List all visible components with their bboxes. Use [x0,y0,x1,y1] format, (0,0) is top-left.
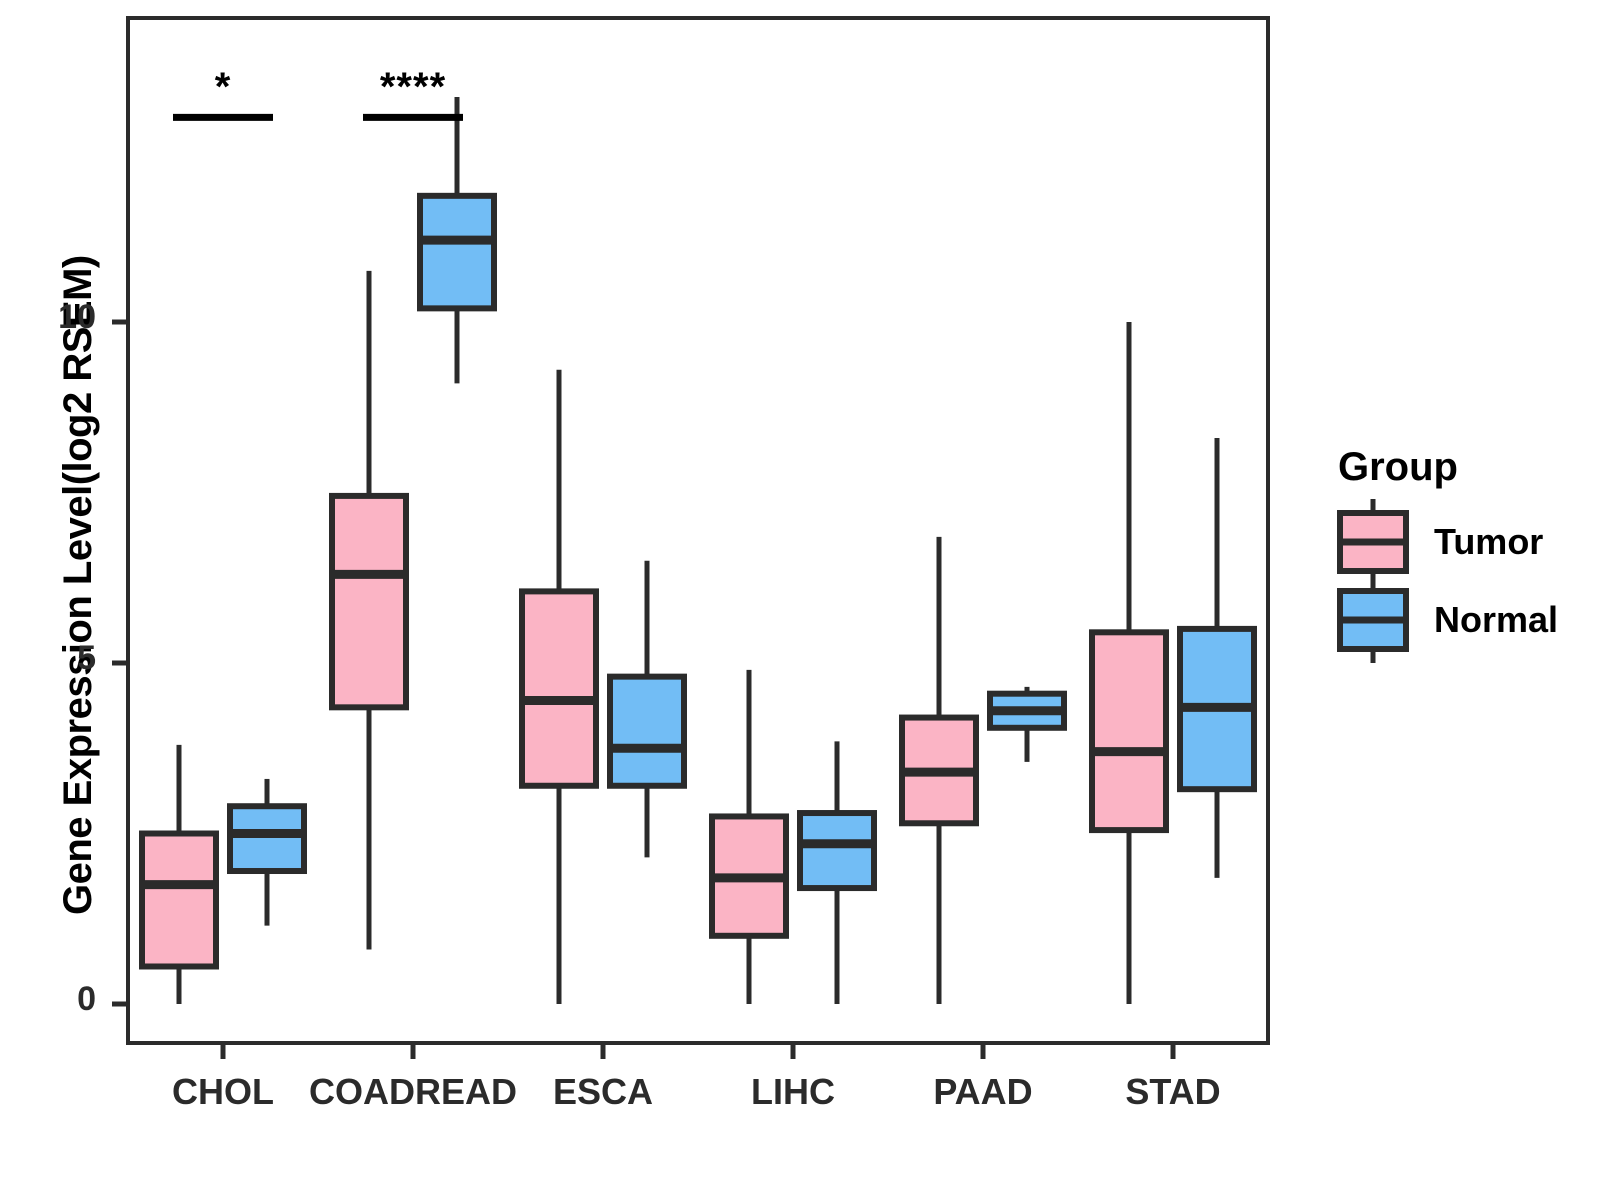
box-normal-esca [610,561,684,858]
plot-area [0,0,1600,1200]
x-tick-label-coadread: COADREAD [309,1071,517,1113]
box-tumor-lihc [712,670,786,1004]
box-normal-lihc [800,741,874,1004]
x-tick-label-chol: CHOL [172,1071,274,1113]
legend-key-normal [1340,577,1406,663]
y-tick-label: 10 [58,298,96,337]
box-normal-stad [1180,438,1254,878]
box-tumor-stad [1092,322,1166,1004]
significance-label-coadread: **** [380,65,446,110]
y-tick-label: 0 [77,980,96,1019]
legend-label-normal: Normal [1434,599,1558,641]
legend-key-tumor [1340,499,1406,585]
box-tumor-esca [522,370,596,1004]
box-rect [800,813,874,888]
x-tick-label-esca: ESCA [553,1071,653,1113]
box-tumor-chol [142,745,216,1004]
box-rect [332,496,406,707]
box-normal-paad [990,687,1064,762]
box-rect [610,677,684,786]
legend-label-tumor: Tumor [1434,521,1543,563]
box-rect [142,834,216,967]
legend-title: Group [1338,445,1458,490]
box-tumor-coadread [332,271,406,950]
x-tick-label-stad: STAD [1125,1071,1220,1113]
box-rect [420,196,494,309]
significance-label-chol: * [215,65,232,110]
box-rect [522,591,596,785]
box-normal-coadread [420,97,494,383]
x-tick-label-paad: PAAD [933,1071,1032,1113]
box-normal-chol [230,779,304,926]
box-rect [230,806,304,871]
box-rect [1092,632,1166,830]
box-tumor-paad [902,537,976,1004]
boxplot-figure: Gene Expression Level(log2 RSEM) 0510CHO… [0,0,1600,1200]
x-tick-label-lihc: LIHC [751,1071,835,1113]
y-tick-label: 5 [77,639,96,678]
panel-border [128,18,1268,1043]
